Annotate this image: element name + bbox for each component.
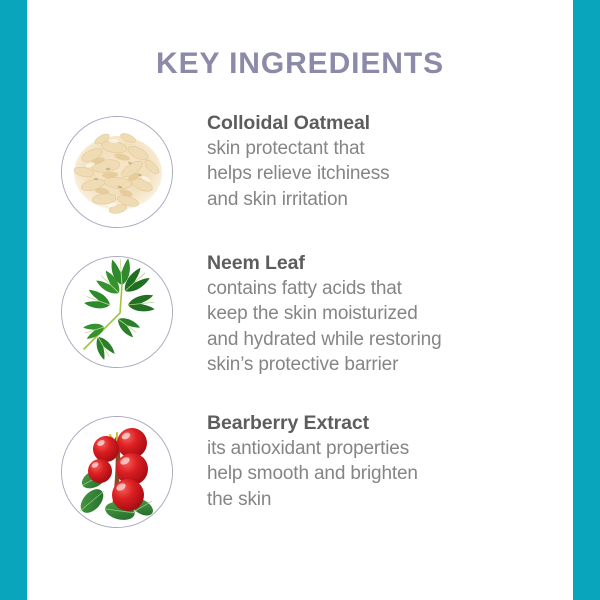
ingredient-item-bearberry-extract: Bearberry Extract its antioxidant proper… bbox=[27, 412, 573, 528]
neem-leaf-icon bbox=[61, 256, 173, 368]
right-accent-bar bbox=[573, 0, 600, 600]
ingredient-text-block: Neem Leaf contains fatty acids that keep… bbox=[207, 252, 573, 377]
ingredient-description: skin protectant that helps relieve itchi… bbox=[207, 136, 563, 212]
ingredient-text-block: Colloidal Oatmeal skin protectant that h… bbox=[207, 112, 573, 212]
ingredient-name: Bearberry Extract bbox=[207, 412, 563, 435]
ingredient-thumb-wrap bbox=[27, 412, 207, 528]
left-accent-bar bbox=[0, 0, 27, 600]
ingredient-item-neem-leaf: Neem Leaf contains fatty acids that keep… bbox=[27, 252, 573, 377]
page-title: KEY INGREDIENTS bbox=[27, 47, 573, 81]
ingredient-thumb-wrap bbox=[27, 112, 207, 228]
ingredient-thumb-wrap bbox=[27, 252, 207, 368]
ingredient-description: contains fatty acids that keep the skin … bbox=[207, 276, 563, 377]
ingredient-text-block: Bearberry Extract its antioxidant proper… bbox=[207, 412, 573, 512]
ingredient-name: Colloidal Oatmeal bbox=[207, 112, 563, 135]
poster-canvas: KEY INGREDIENTS bbox=[27, 0, 573, 600]
oat-flakes-icon bbox=[61, 116, 173, 228]
ingredient-description: its antioxidant properties help smooth a… bbox=[207, 436, 563, 512]
key-ingredients-poster: KEY INGREDIENTS bbox=[0, 0, 600, 600]
ingredient-name: Neem Leaf bbox=[207, 252, 563, 275]
ingredient-item-colloidal-oatmeal: Colloidal Oatmeal skin protectant that h… bbox=[27, 112, 573, 228]
bearberry-branch-icon bbox=[61, 416, 173, 528]
